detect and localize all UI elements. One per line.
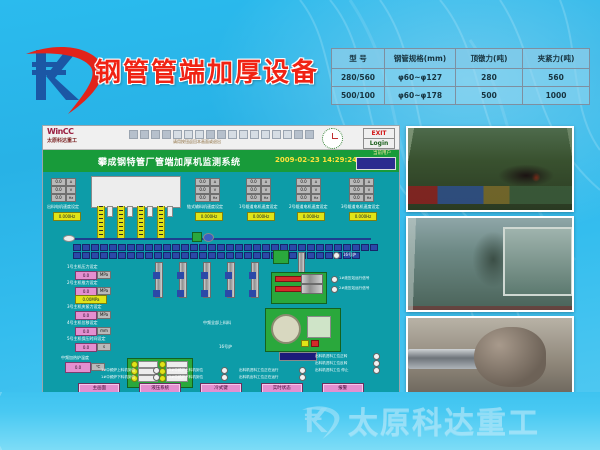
readout-value: 0.0 [195,194,210,202]
sensor-tag [127,206,133,217]
watermark-text: 太原科达重工 [348,398,540,442]
roller [163,244,171,251]
clamp-icon [177,272,184,279]
analog-clock-icon [322,128,343,149]
status-lamp [159,361,166,368]
roller [145,252,153,259]
ram-cylinder [301,284,323,294]
toolbar-icon[interactable] [129,130,138,139]
indicator-label: 2#中频炉下料机到位 [169,375,203,380]
led-indicator [153,367,160,374]
roller [100,244,108,251]
left-readout-unit: MPa [97,271,111,279]
roller [100,252,108,259]
clamp-icon [225,290,232,297]
left-readout-extra[interactable]: 0.00MPa [75,295,107,304]
sensor-tag [107,206,113,217]
left-readout-unit: s [97,343,111,351]
right-indicator-label: 1#液压站运行信号 [339,276,369,281]
roller [217,244,225,251]
roller [118,244,126,251]
readout-value: 0.0 [51,178,66,186]
roller [370,244,378,251]
readout-unit: A [311,178,321,186]
roller [226,244,234,251]
roller [325,252,333,259]
roller [154,252,162,259]
roller [253,252,261,259]
roller [109,244,117,251]
valve-icon [192,232,202,242]
readout-unit: V [364,186,374,194]
display-panel [307,316,331,338]
readout-unit: A [66,178,76,186]
roller [199,252,207,259]
heater-column [117,206,125,238]
handwheel-icon [271,314,301,344]
toolbar-icon[interactable] [173,130,182,139]
status-lamp [159,375,166,382]
hmi-screenshot: WinCC 太原科达重工 请用按钮返回本画面或退出 EXIT Login 攀成钢… [42,125,400,397]
hmi-system-title: 攀成钢特管厂管端加厚机监测系统 [98,155,241,168]
heater-temp-value[interactable]: 0.0 [65,362,91,373]
led-indicator [153,374,160,381]
status-lamp [131,361,138,368]
roller [127,252,135,259]
furnace-housing [91,176,181,208]
readout-setpoint[interactable]: 0.000Hz [195,212,223,221]
readout-value: 0.0 [246,186,261,194]
wincc-logo: WinCC 太原科达重工 [47,127,119,144]
clamp-icon [177,290,184,297]
readout-value: 0.0 [296,186,311,194]
readout-label: 出料电机速度设定 [47,204,79,210]
clamp-icon [225,272,232,279]
readout-value: 0.0 [195,178,210,186]
toolbar-icon[interactable] [272,130,281,139]
right-indicator-label: 2#液压站运行信号 [339,286,369,291]
clamp-icon [153,290,160,297]
ram-cylinder [301,274,323,284]
heater-column [97,206,105,238]
roller [91,244,99,251]
toolbar-icon[interactable] [261,130,270,139]
clamp-icon [201,290,208,297]
clamp-icon [249,290,256,297]
left-readout-label: 1号主机压力设定 [67,264,98,270]
readout-unit: Hz [311,194,321,202]
cell-clamp-force: 1000 [523,87,590,105]
status-indicator [333,252,340,259]
left-readout-unit: mm [97,327,111,335]
toolbar-icon[interactable] [283,130,292,139]
cell-upset-force: 500 [456,87,523,105]
readout-value: 0.0 [246,178,261,186]
led-indicator [331,276,338,283]
toolbar-icon[interactable] [217,130,226,139]
led-indicator [373,367,380,374]
roller [334,244,342,251]
roller [298,244,306,251]
led-indicator [331,286,338,293]
left-readout-value[interactable]: 0.0 [75,343,97,352]
readout-label: 链式输料机速度设定 [187,204,223,210]
toolbar-note: 请用按钮返回本画面或退出 [173,139,221,145]
toolbar-icon[interactable] [294,130,303,139]
right-small-label: 16号炉 [343,252,356,258]
roller [253,244,261,251]
toolbar-icon[interactable] [151,130,160,139]
readout-value: 0.0 [296,194,311,202]
roller [127,244,135,251]
led-indicator [373,353,380,360]
th-model: 型 号 [332,49,385,69]
roller [262,244,270,251]
roller [235,244,243,251]
heat-bar [275,276,303,282]
clamp-icon [153,272,160,279]
heat-bar [275,286,303,292]
photo-plant-frame [406,216,574,312]
roller [172,244,180,251]
led-indicator [221,374,228,381]
roller [82,244,90,251]
toolbar-icon[interactable] [228,130,237,139]
roller [244,252,252,259]
toolbar-icon[interactable] [162,130,171,139]
readout-value: 0.0 [349,178,364,186]
indicator-label: 出料机进料工位反转 [315,361,347,366]
readout-unit: Hz [364,194,374,202]
roller [145,244,153,251]
readout-label: 1号辊道电机速度设定 [239,204,278,210]
hmi-toolbar: WinCC 太原科达重工 请用按钮返回本画面或退出 EXIT Login [43,126,399,150]
cell-clamp-force: 560 [523,69,590,87]
led-indicator [299,367,306,374]
th-clamp-force: 夹紧力(吨) [523,49,590,69]
photo-rolling-line [406,126,574,212]
readout-value: 0.0 [296,178,311,186]
table-header-row: 型 号 钢管规格(mm) 顶镦力(吨) 夹紧力(吨) [332,49,590,69]
center-label: 16号炉 [219,344,232,350]
cell-model: 280/560 [332,69,385,87]
readout-setpoint[interactable]: 0.000Hz [349,212,377,221]
toolbar-icon[interactable] [250,130,259,139]
roller [172,252,180,259]
readout-unit: A [210,178,220,186]
roller [361,244,369,251]
readout-value: 0.0 [349,194,364,202]
heater-temp-label: 中频加热炉温度 [61,355,89,361]
hmi-canvas: 0.0 A 0.0 V 0.0 Hz 出料电机速度设定 0.000Hz 0.0 … [43,172,399,397]
readout-unit: Hz [210,194,220,202]
clamp-icon [201,272,208,279]
led-indicator [299,374,306,381]
indicator-label: 出料机出料工位正在运行 [239,375,279,380]
readout-unit: V [210,186,220,194]
roller [208,244,216,251]
roller [136,244,144,251]
roller [316,252,324,259]
roller-bank [73,244,378,251]
drive-pulley [63,235,75,242]
roller [163,252,171,259]
readout-unit: A [261,178,271,186]
roller [190,252,198,259]
toolbar-icon[interactable] [239,130,248,139]
roller [154,244,162,251]
panel-readout [166,361,188,368]
roller [82,252,90,259]
roller [73,252,81,259]
led-indicator [373,360,380,367]
roller [109,252,117,259]
led-indicator [221,367,228,374]
unit-nameplate [279,352,317,361]
sensor-tag [167,206,173,217]
left-readout-value[interactable]: 0.0 [75,271,97,280]
roller [307,252,315,259]
readout-value: 0.0 [349,186,364,194]
roller [289,252,297,259]
readout-unit: A [364,178,374,186]
roller [244,244,252,251]
left-readout-label: 5号主机保压时间设定 [67,336,106,342]
clamp-icon [249,272,256,279]
roller [307,244,315,251]
heater-column [137,206,145,238]
roller [235,252,243,259]
readout-value: 0.0 [246,194,261,202]
current-user-label: 当前用户 [373,150,391,156]
hmi-title-bar: 攀成钢特管厂管端加厚机监测系统 2009-02-23 14:29:24 当前用户 [43,150,399,172]
readout-unit: Hz [261,194,271,202]
indicator-label: 出料机进料工位正在运行 [239,368,279,373]
indicator-label: 1#中频炉下料机到位 [101,375,135,380]
feeder-icon [273,250,289,264]
roller [190,244,198,251]
cell-pipe-spec: φ60~φ178 [385,87,456,105]
roller [325,244,333,251]
roller [91,252,99,259]
readout-unit: V [261,186,271,194]
left-readout-unit: MPa [97,311,111,319]
left-readout-label: 4号主机位移设定 [67,320,98,326]
conveyor-rail [71,238,371,240]
watermark-logo-icon [300,401,342,439]
readout-label: 3号辊道电机速度设定 [341,204,380,210]
left-readout-value[interactable]: 0.0 [75,327,97,336]
table-row: 280/560 φ60~φ127 280 560 [332,69,590,87]
status-lamp [301,340,309,347]
roller [262,252,270,259]
readout-setpoint[interactable]: 0.000Hz [247,212,275,221]
login-button[interactable]: Login [363,138,395,149]
hmi-datetime: 2009-02-23 14:29:24 [275,156,357,164]
roller [181,244,189,251]
toolbar-icon[interactable] [140,130,149,139]
readout-unit: Hz [66,194,76,202]
left-readout-label: 3号主机夹紧力设定 [67,304,102,310]
indicator-label: 2#中频炉上料机到位 [169,368,203,373]
photo-pipe-end [406,316,574,398]
center-label: 中频全部上料料 [203,320,231,326]
roller [199,244,207,251]
roller-bank-lower [73,252,360,259]
readout-value: 0.0 [51,186,66,194]
roller [136,252,144,259]
roller [352,244,360,251]
roller [181,252,189,259]
readout-value: 0.0 [195,186,210,194]
left-readout-label: 2号主机推力设定 [67,280,98,286]
readout-value: 0.0 [51,194,66,202]
roller [343,244,351,251]
slide-root: 钢管管端加厚设备 型 号 钢管规格(mm) 顶镦力(吨) 夹紧力(吨) 280/… [0,0,600,450]
cell-pipe-spec: φ60~φ127 [385,69,456,87]
roller [289,244,297,251]
th-pipe-spec: 钢管规格(mm) [385,49,456,69]
roller [316,244,324,251]
toolbar-icon-strip[interactable] [129,130,314,139]
roller [208,252,216,259]
cell-model: 500/100 [332,87,385,105]
toolbar-icon[interactable] [305,130,314,139]
motor-icon [203,233,214,242]
toolbar-icon[interactable] [206,130,215,139]
roller [217,252,225,259]
spec-table: 型 号 钢管规格(mm) 顶镦力(吨) 夹紧力(吨) 280/560 φ60~φ… [331,48,590,105]
cell-upset-force: 280 [456,69,523,87]
status-lamp [159,368,166,375]
roller [118,252,126,259]
watermark: 太原科达重工 [300,398,540,442]
wincc-company-label: 太原科达重工 [47,137,119,144]
readout-label: 2号辊道电机速度设定 [289,204,328,210]
heater-column [157,206,165,238]
table-row: 500/100 φ60~φ178 500 1000 [332,87,590,105]
indicator-label: 出料机进料工位 停止 [315,368,349,373]
toolbar-icon[interactable] [184,130,193,139]
left-readout-unit: MPa [97,287,111,295]
current-user-field[interactable] [356,157,396,170]
readout-setpoint[interactable]: 0.000Hz [297,212,325,221]
roller [226,252,234,259]
indicator-label: 1#中频炉上料机到位 [101,368,135,373]
wincc-label: WinCC [47,127,119,136]
indicator-label: 出料机进料工位正转 [315,354,347,359]
left-readout-value[interactable]: 0.0 [75,311,97,320]
sensor-tag [147,206,153,217]
roller [73,244,81,251]
readout-unit: V [311,186,321,194]
th-upset-force: 顶镦力(吨) [456,49,523,69]
alarm-lamp [311,340,319,347]
toolbar-icon[interactable] [195,130,204,139]
readout-setpoint[interactable]: 0.000Hz [53,212,81,221]
readout-unit: V [66,186,76,194]
page-title: 钢管管端加厚设备 [95,52,319,89]
